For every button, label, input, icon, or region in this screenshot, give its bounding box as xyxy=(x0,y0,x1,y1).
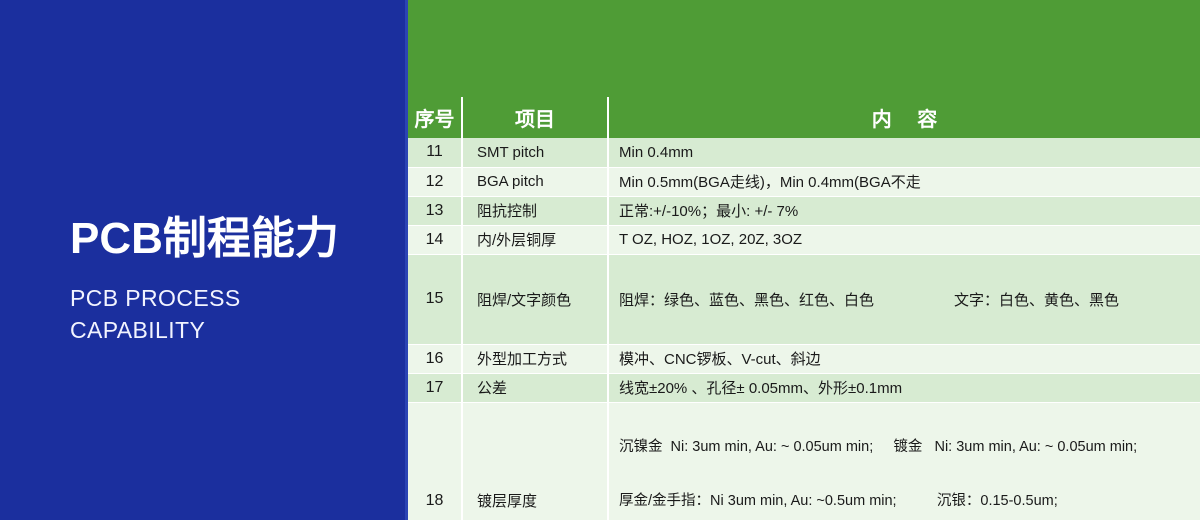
row-content: 线宽±20% 、孔径± 0.05mm、外形±0.1mm xyxy=(608,373,1200,402)
left-title-panel: PCB制程能力 PCB PROCESS CAPABILITY xyxy=(0,0,408,520)
row-content: 正常:+/-10%；最小: +/- 7% xyxy=(608,196,1200,225)
row-item: 内/外层铜厚 xyxy=(462,225,608,254)
row-no: 12 xyxy=(408,167,462,196)
spec-table-body: 11 SMT pitch Min 0.4mm 12 BGA pitch Min … xyxy=(408,138,1200,520)
page-title-chinese: PCB制程能力 xyxy=(70,216,400,262)
row-no: 14 xyxy=(408,225,462,254)
row-no: 11 xyxy=(408,138,462,167)
page-title-english-line2: CAPABILITY xyxy=(70,315,400,347)
column-header-content: 内 容 xyxy=(608,97,1200,138)
row-content-line1: 沉镍金 Ni: 3um min, Au: ~ 0.05um min; 镀金 Ni… xyxy=(619,437,1200,457)
row-no: 15 xyxy=(408,254,462,344)
table-row: 12 BGA pitch Min 0.5mm(BGA走线)，Min 0.4mm(… xyxy=(408,167,1200,196)
row-content: Min 0.5mm(BGA走线)，Min 0.4mm(BGA不走 xyxy=(608,167,1200,196)
row-item: 外型加工方式 xyxy=(462,344,608,373)
spec-table-header-row: 序号 项目 内 容 xyxy=(408,97,1200,138)
table-row: 14 内/外层铜厚 T OZ, HOZ, 1OZ, 20Z, 3OZ xyxy=(408,225,1200,254)
row-item: 阻抗控制 xyxy=(462,196,608,225)
table-row: 11 SMT pitch Min 0.4mm xyxy=(408,138,1200,167)
row-no: 17 xyxy=(408,373,462,402)
row-item: SMT pitch xyxy=(462,138,608,167)
row-item: 公差 xyxy=(462,373,608,402)
column-header-no: 序号 xyxy=(408,97,462,138)
row-no: 18 xyxy=(408,402,462,520)
spec-table-container: 序号 项目 内 容 11 SMT pitch Min 0.4mm 12 BGA … xyxy=(408,97,1200,520)
row-content: 阻焊：绿色、蓝色、黑色、红色、白色 文字：白色、黄色、黑色 xyxy=(608,254,1200,344)
row-content-solder-mask: 阻焊：绿色、蓝色、黑色、红色、白色 xyxy=(619,289,954,310)
spec-table: 序号 项目 内 容 11 SMT pitch Min 0.4mm 12 BGA … xyxy=(408,97,1200,520)
title-block: PCB制程能力 PCB PROCESS CAPABILITY xyxy=(70,216,400,347)
row-content-legend-text: 文字：白色、黄色、黑色 xyxy=(954,289,1200,310)
row-no: 16 xyxy=(408,344,462,373)
row-item: 镀层厚度 xyxy=(462,402,608,520)
row-no: 13 xyxy=(408,196,462,225)
page-title-english-line1: PCB PROCESS xyxy=(70,283,400,315)
row-content-line2: 厚金/金手指：Ni 3um min, Au: ~0.5um min; 沉银：0.… xyxy=(619,491,1200,511)
row-item: BGA pitch xyxy=(462,167,608,196)
row-content: 沉镍金 Ni: 3um min, Au: ~ 0.05um min; 镀金 Ni… xyxy=(608,402,1200,520)
row-content: T OZ, HOZ, 1OZ, 20Z, 3OZ xyxy=(608,225,1200,254)
table-row: 15 阻焊/文字颜色 阻焊：绿色、蓝色、黑色、红色、白色 文字：白色、黄色、黑色 xyxy=(408,254,1200,344)
page-title-english: PCB PROCESS CAPABILITY xyxy=(70,283,400,346)
spec-table-head: 序号 项目 内 容 xyxy=(408,97,1200,138)
table-row: 13 阻抗控制 正常:+/-10%；最小: +/- 7% xyxy=(408,196,1200,225)
column-header-item: 项目 xyxy=(462,97,608,138)
row-content: 模冲、CNC锣板、V-cut、斜边 xyxy=(608,344,1200,373)
table-row: 18 镀层厚度 沉镍金 Ni: 3um min, Au: ~ 0.05um mi… xyxy=(408,402,1200,520)
table-row: 17 公差 线宽±20% 、孔径± 0.05mm、外形±0.1mm xyxy=(408,373,1200,402)
row-content: Min 0.4mm xyxy=(608,138,1200,167)
table-row: 16 外型加工方式 模冲、CNC锣板、V-cut、斜边 xyxy=(408,344,1200,373)
row-item: 阻焊/文字颜色 xyxy=(462,254,608,344)
slide-root: PCB制程能力 PCB PROCESS CAPABILITY 序号 项目 内 容 xyxy=(0,0,1200,520)
